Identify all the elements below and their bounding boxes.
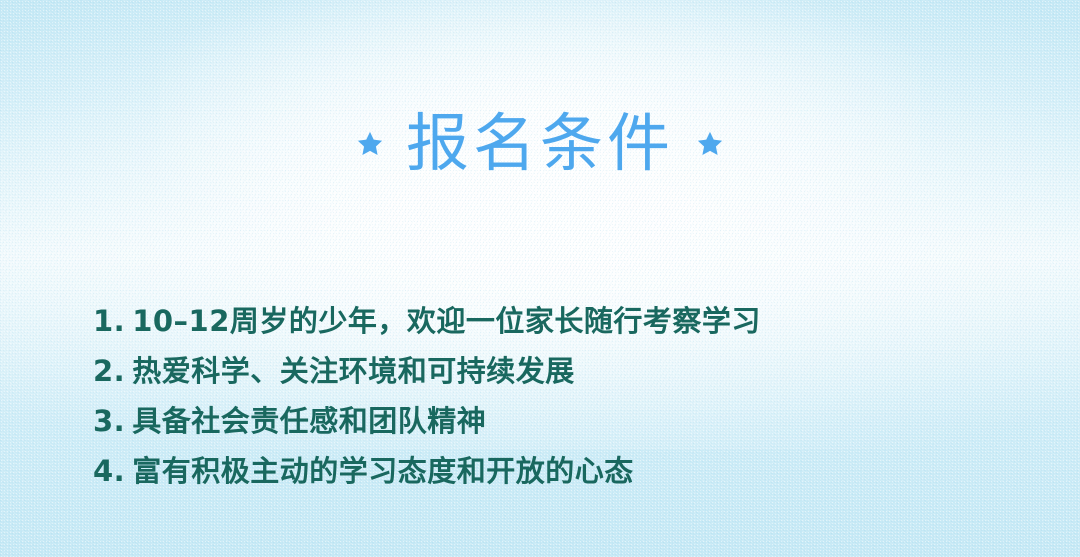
list-item: 3. 具备社会责任感和团队精神 <box>93 396 1040 446</box>
list-item-number: 2. <box>93 346 125 396</box>
list-item-label: 富有积极主动的学习态度和开放的心态 <box>132 446 634 496</box>
list-item: 2. 热爱科学、关注环境和可持续发展 <box>93 346 1040 396</box>
list-item-label: 具备社会责任感和团队精神 <box>132 396 486 446</box>
star-icon <box>696 130 724 158</box>
title-row: 报名条件 <box>0 112 1080 175</box>
list-item-number: 4. <box>93 446 125 496</box>
requirements-list: 1. 10–12周岁的少年，欢迎一位家长随行考察学习 2. 热爱科学、关注环境和… <box>93 296 1040 496</box>
list-item-label: 10–12周岁的少年，欢迎一位家长随行考察学习 <box>132 296 761 346</box>
poster-canvas: 报名条件 1. 10–12周岁的少年，欢迎一位家长随行考察学习 2. 热爱科学、… <box>0 0 1080 557</box>
list-item: 4. 富有积极主动的学习态度和开放的心态 <box>93 446 1040 496</box>
star-icon <box>356 130 384 158</box>
list-item-number: 1. <box>93 296 125 346</box>
list-item: 1. 10–12周岁的少年，欢迎一位家长随行考察学习 <box>93 296 1040 346</box>
page-title: 报名条件 <box>406 112 674 175</box>
list-item-label: 热爱科学、关注环境和可持续发展 <box>132 346 575 396</box>
poster-content: 报名条件 1. 10–12周岁的少年，欢迎一位家长随行考察学习 2. 热爱科学、… <box>0 0 1080 557</box>
list-item-number: 3. <box>93 396 125 446</box>
